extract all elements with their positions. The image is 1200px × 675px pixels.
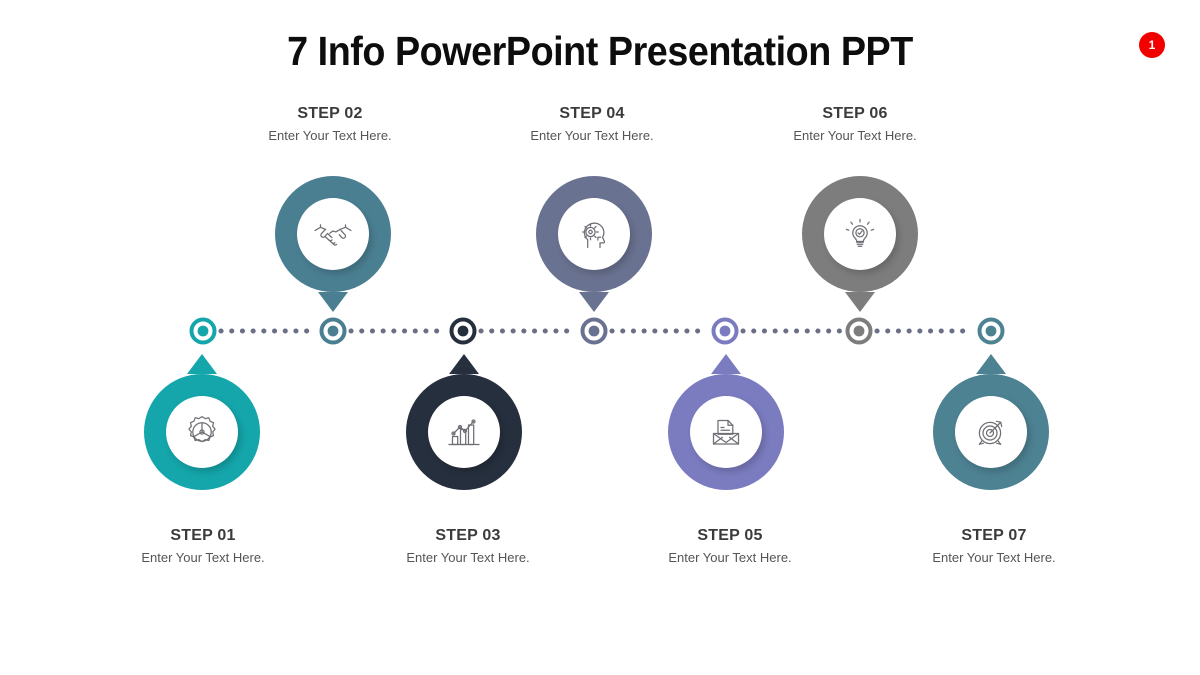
step-node-3[interactable] bbox=[406, 374, 522, 490]
step-description: Enter Your Text Here. bbox=[610, 550, 850, 565]
timeline-marker-2[interactable] bbox=[322, 320, 345, 343]
step-node-ring[interactable] bbox=[536, 176, 652, 292]
step-node-icon-disc bbox=[558, 198, 630, 270]
step-node-pointer bbox=[187, 354, 217, 374]
step-node-ring[interactable] bbox=[144, 374, 260, 490]
handshake-icon bbox=[312, 213, 354, 255]
step-node-5[interactable] bbox=[668, 374, 784, 490]
email-document-icon bbox=[705, 411, 747, 453]
head-gear-thinking-icon bbox=[573, 213, 615, 255]
step-node-ring[interactable] bbox=[275, 176, 391, 292]
step-title: STEP 06 bbox=[735, 105, 975, 123]
step-node-7[interactable] bbox=[933, 374, 1049, 490]
step-node-1[interactable] bbox=[144, 374, 260, 490]
step-node-icon-disc bbox=[824, 198, 896, 270]
step-node-6[interactable] bbox=[802, 176, 918, 292]
step-node-2[interactable] bbox=[275, 176, 391, 292]
timeline-axis bbox=[0, 0, 1200, 675]
step-node-icon-disc bbox=[955, 396, 1027, 468]
gear-cog-icon bbox=[182, 412, 222, 452]
step-description: Enter Your Text Here. bbox=[348, 550, 588, 565]
timeline-marker-4[interactable] bbox=[583, 320, 606, 343]
step-title: STEP 07 bbox=[874, 527, 1114, 545]
step-label-4: STEP 04 Enter Your Text Here. bbox=[472, 105, 712, 143]
step-description: Enter Your Text Here. bbox=[735, 128, 975, 143]
page-number-value: 1 bbox=[1149, 39, 1156, 51]
step-node-ring[interactable] bbox=[933, 374, 1049, 490]
step-description: Enter Your Text Here. bbox=[83, 550, 323, 565]
step-node-4[interactable] bbox=[536, 176, 652, 292]
step-label-3: STEP 03 Enter Your Text Here. bbox=[348, 527, 588, 565]
timeline-marker-3[interactable] bbox=[452, 320, 475, 343]
step-title: STEP 01 bbox=[83, 527, 323, 545]
step-node-icon-disc bbox=[297, 198, 369, 270]
timeline-marker-6[interactable] bbox=[848, 320, 871, 343]
step-title: STEP 04 bbox=[472, 105, 712, 123]
step-title: STEP 05 bbox=[610, 527, 850, 545]
step-node-ring[interactable] bbox=[668, 374, 784, 490]
lightbulb-check-icon bbox=[839, 213, 881, 255]
page-title: 7 Info PowerPoint Presentation PPT bbox=[48, 28, 1152, 75]
step-node-pointer bbox=[845, 292, 875, 312]
step-node-pointer bbox=[449, 354, 479, 374]
step-node-icon-disc bbox=[428, 396, 500, 468]
step-node-ring[interactable] bbox=[406, 374, 522, 490]
bar-chart-growth-icon bbox=[443, 411, 485, 453]
step-label-6: STEP 06 Enter Your Text Here. bbox=[735, 105, 975, 143]
step-node-icon-disc bbox=[166, 396, 238, 468]
step-title: STEP 03 bbox=[348, 527, 588, 545]
timeline-marker-5[interactable] bbox=[714, 320, 737, 343]
step-label-7: STEP 07 Enter Your Text Here. bbox=[874, 527, 1114, 565]
step-label-2: STEP 02 Enter Your Text Here. bbox=[210, 105, 450, 143]
step-description: Enter Your Text Here. bbox=[874, 550, 1114, 565]
step-node-pointer bbox=[711, 354, 741, 374]
step-node-pointer bbox=[579, 292, 609, 312]
step-label-5: STEP 05 Enter Your Text Here. bbox=[610, 527, 850, 565]
step-node-ring[interactable] bbox=[802, 176, 918, 292]
slide-canvas: 7 Info PowerPoint Presentation PPT 1 bbox=[0, 0, 1200, 675]
step-node-pointer bbox=[318, 292, 348, 312]
step-node-pointer bbox=[976, 354, 1006, 374]
step-node-icon-disc bbox=[690, 396, 762, 468]
step-title: STEP 02 bbox=[210, 105, 450, 123]
step-description: Enter Your Text Here. bbox=[210, 128, 450, 143]
step-label-1: STEP 01 Enter Your Text Here. bbox=[83, 527, 323, 565]
target-arrow-icon bbox=[970, 411, 1012, 453]
timeline-marker-1[interactable] bbox=[192, 320, 215, 343]
timeline-marker-7[interactable] bbox=[980, 320, 1003, 343]
page-number-badge: 1 bbox=[1139, 32, 1165, 58]
step-description: Enter Your Text Here. bbox=[472, 128, 712, 143]
